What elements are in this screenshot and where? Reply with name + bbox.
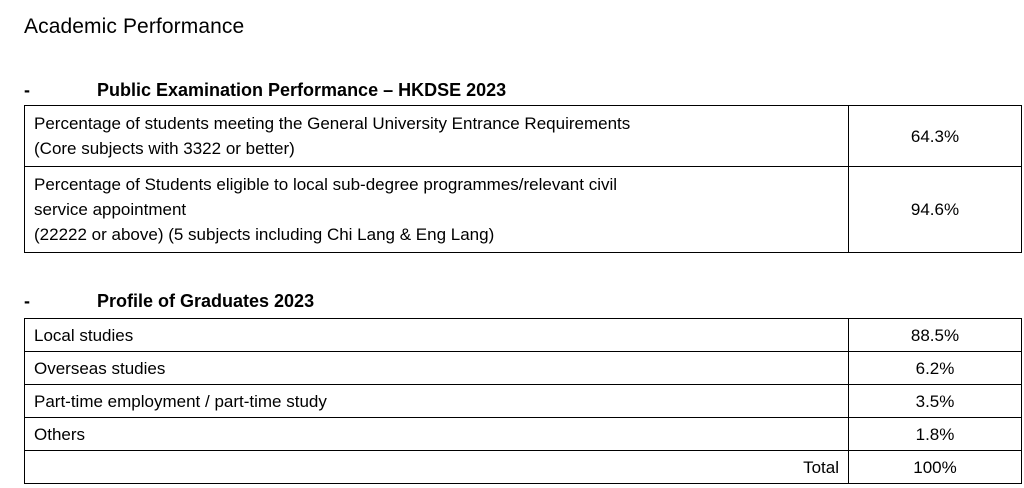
bullet-dash: -: [24, 289, 97, 313]
exam-row-0-value: 64.3%: [849, 106, 1022, 167]
table-row: Others 1.8%: [25, 418, 1022, 451]
section-heading-label: Profile of Graduates 2023: [97, 289, 314, 313]
table-row: Percentage of students meeting the Gener…: [25, 106, 1022, 167]
profile-row-2-value: 3.5%: [849, 385, 1022, 418]
table-row-total: Total 100%: [25, 451, 1022, 484]
description-line: Percentage of Students eligible to local…: [34, 172, 842, 197]
description-line: (22222 or above) (5 subjects including C…: [34, 222, 842, 247]
description-line: service appointment: [34, 197, 842, 222]
profile-row-1-value: 6.2%: [849, 352, 1022, 385]
exam-row-0-description: Percentage of students meeting the Gener…: [25, 106, 849, 167]
profile-total-label: Total: [25, 451, 849, 484]
table-row: Local studies 88.5%: [25, 319, 1022, 352]
section-heading-profile-of-graduates: -Profile of Graduates 2023: [24, 289, 314, 313]
profile-row-2-label: Part-time employment / part-time study: [25, 385, 849, 418]
profile-row-3-value: 1.8%: [849, 418, 1022, 451]
table-public-examination-performance: Percentage of students meeting the Gener…: [24, 105, 1022, 253]
profile-total-value: 100%: [849, 451, 1022, 484]
profile-row-0-label: Local studies: [25, 319, 849, 352]
description-line: (Core subjects with 3322 or better): [34, 136, 842, 161]
profile-row-0-value: 88.5%: [849, 319, 1022, 352]
table-row: Part-time employment / part-time study 3…: [25, 385, 1022, 418]
profile-row-1-label: Overseas studies: [25, 352, 849, 385]
document-page: Academic Performance -Public Examination…: [0, 0, 1024, 488]
bullet-dash: -: [24, 78, 97, 102]
table-row: Overseas studies 6.2%: [25, 352, 1022, 385]
table-profile-of-graduates: Local studies 88.5% Overseas studies 6.2…: [24, 318, 1022, 484]
table-row: Percentage of Students eligible to local…: [25, 167, 1022, 253]
profile-row-3-label: Others: [25, 418, 849, 451]
exam-row-1-description: Percentage of Students eligible to local…: [25, 167, 849, 253]
page-title: Academic Performance: [24, 14, 244, 40]
exam-row-1-value: 94.6%: [849, 167, 1022, 253]
section-heading-public-examination: -Public Examination Performance – HKDSE …: [24, 78, 506, 102]
description-line: Percentage of students meeting the Gener…: [34, 111, 842, 136]
section-heading-label: Public Examination Performance – HKDSE 2…: [97, 78, 506, 102]
